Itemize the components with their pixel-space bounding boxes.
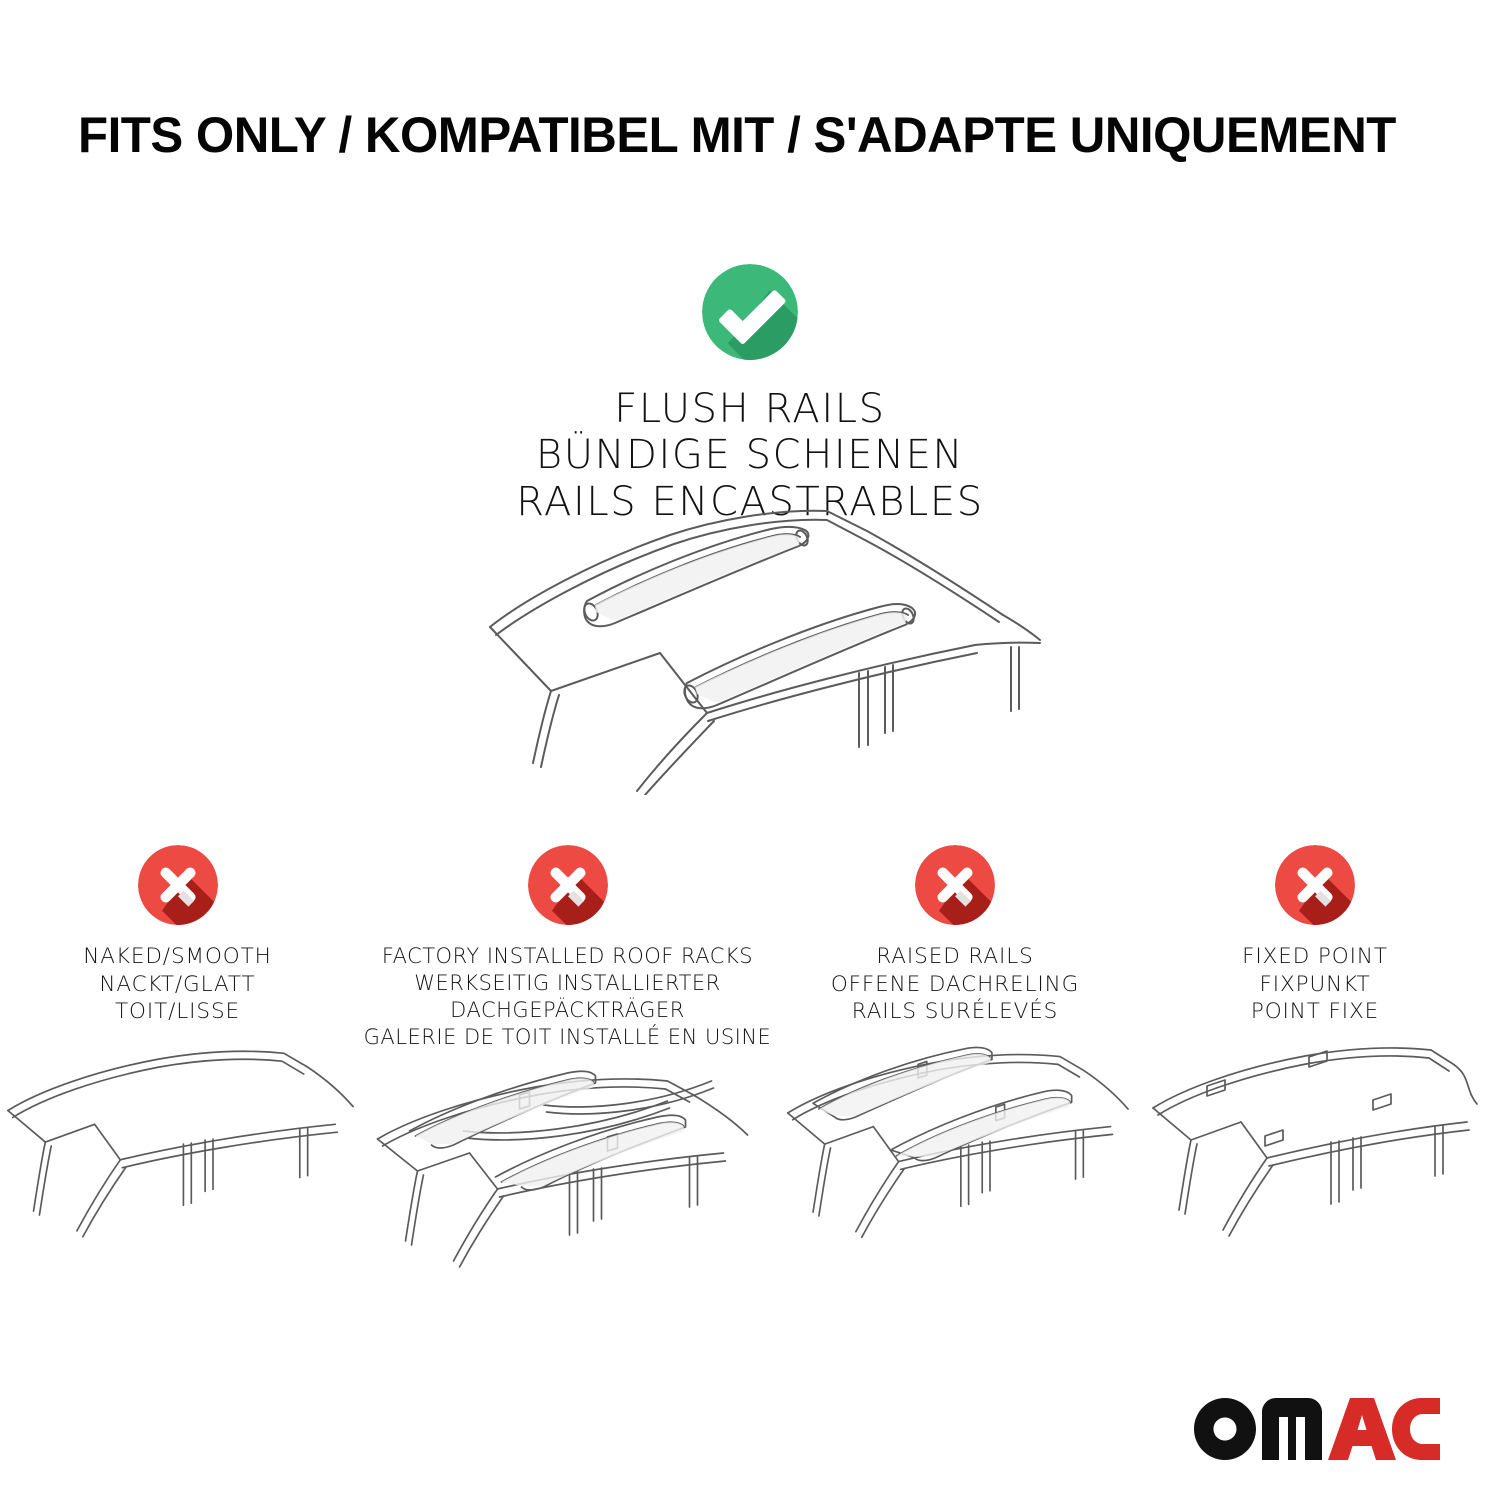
incompatible-section: NAKED/SMOOTH NACKT/GLATT TOIT/LISSE: [0, 845, 1500, 1280]
label-line-en: RAISED RAILS: [831, 943, 1079, 971]
page-title: FITS ONLY / KOMPATIBEL MIT / S'ADAPTE UN…: [78, 110, 1396, 160]
cross-circle-icon: [1275, 845, 1355, 925]
label-line-de-2: DACHGEPÄCKTRÄGER: [364, 997, 772, 1024]
incompatible-column-factory-rack: FACTORY INSTALLED ROOF RACKS WERKSEITIG …: [355, 845, 780, 1280]
label-line-fr: POINT FIXE: [1242, 998, 1388, 1026]
cross-circle-icon: [138, 845, 218, 925]
incompatible-label-raised-rails: RAISED RAILS OFFENE DACHRELING RAILS SUR…: [831, 943, 1079, 1026]
compatible-line-en: FLUSH RAILS: [516, 386, 984, 432]
label-line-de: NACKT/GLATT: [83, 971, 271, 999]
car-roof-raised-rails-illustration: [780, 1040, 1130, 1255]
compatible-line-de: BÜNDIGE SCHIENEN: [516, 432, 984, 478]
incompatible-label-fixed-point: FIXED POINT FIXPUNKT POINT FIXE: [1242, 943, 1388, 1026]
car-roof-fixed-point-illustration: [1130, 1040, 1500, 1255]
car-roof-factory-rack-illustration: [355, 1065, 780, 1280]
label-line-de: FIXPUNKT: [1242, 971, 1388, 999]
label-line-de-1: WERKSEITIG INSTALLIERTER: [364, 970, 772, 997]
car-roof-flush-rails-illustration: [455, 495, 1055, 795]
cross-circle-icon: [915, 845, 995, 925]
incompatible-column-raised-rails: RAISED RAILS OFFENE DACHRELING RAILS SUR…: [780, 845, 1130, 1255]
label-line-en: NAKED/SMOOTH: [83, 943, 271, 971]
label-line-fr: TOIT/LISSE: [83, 998, 271, 1026]
compatible-section: FLUSH RAILS BÜNDIGE SCHIENEN RAILS ENCAS…: [0, 264, 1500, 525]
cross-circle-icon: [528, 845, 608, 925]
incompatible-label-factory-rack: FACTORY INSTALLED ROOF RACKS WERKSEITIG …: [364, 943, 772, 1051]
omac-logo: [1192, 1396, 1442, 1462]
incompatible-column-fixed-point: FIXED POINT FIXPUNKT POINT FIXE: [1130, 845, 1500, 1255]
car-roof-naked-illustration: [0, 1040, 355, 1255]
label-line-en: FIXED POINT: [1242, 943, 1388, 971]
label-line-de: OFFENE DACHRELING: [831, 971, 1079, 999]
label-line-fr: RAILS SURÉLEVÉS: [831, 998, 1079, 1026]
incompatible-label-naked: NAKED/SMOOTH NACKT/GLATT TOIT/LISSE: [83, 943, 271, 1026]
label-line-fr: GALERIE DE TOIT INSTALLÉ EN USINE: [364, 1024, 772, 1051]
check-circle-icon: [702, 264, 798, 360]
page-title-bar: FITS ONLY / KOMPATIBEL MIT / S'ADAPTE UN…: [78, 104, 1428, 166]
incompatible-column-naked: NAKED/SMOOTH NACKT/GLATT TOIT/LISSE: [0, 845, 355, 1255]
label-line-en: FACTORY INSTALLED ROOF RACKS: [364, 943, 772, 970]
